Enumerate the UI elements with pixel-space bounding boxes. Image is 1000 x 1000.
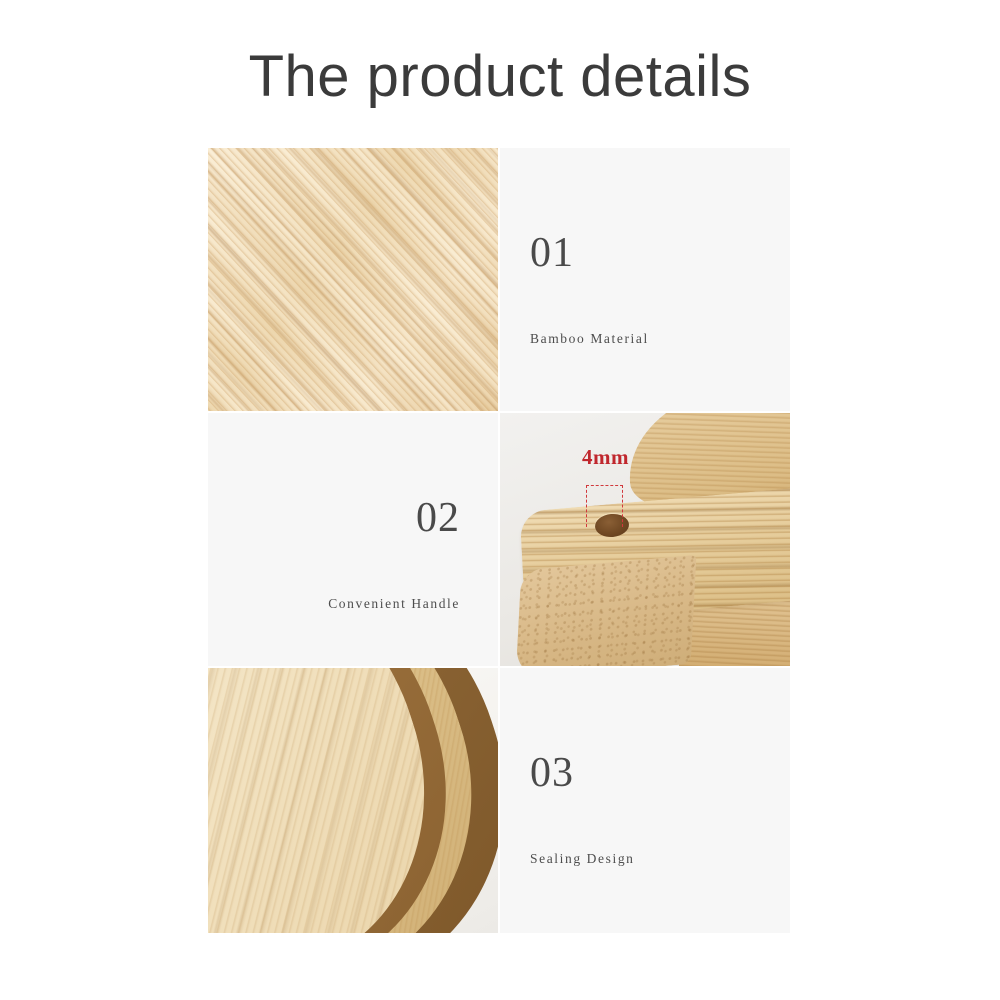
detail-item-01: 01 Bamboo Material bbox=[500, 148, 790, 411]
detail-label-02: Convenient Handle bbox=[328, 597, 460, 611]
measurement-dashed-box bbox=[586, 485, 623, 527]
detail-grid: 01 Bamboo Material 02 Convenient Handle … bbox=[208, 148, 790, 937]
sealed-edge-photo bbox=[208, 668, 498, 933]
detail-label-01: Bamboo Material bbox=[530, 332, 649, 346]
sealed-edge-scene bbox=[208, 668, 498, 933]
measurement-label: 4mm bbox=[582, 447, 629, 468]
bamboo-grain-texture bbox=[208, 148, 498, 411]
page-title: The product details bbox=[0, 44, 1000, 111]
detail-item-02: 02 Convenient Handle bbox=[208, 413, 498, 666]
handle-end-grain bbox=[515, 555, 696, 666]
product-details-page: The product details 01 Bamboo Material 0… bbox=[0, 0, 1000, 1000]
detail-item-03: 03 Sealing Design bbox=[500, 668, 790, 933]
detail-label-03: Sealing Design bbox=[530, 852, 635, 866]
detail-number-01: 01 bbox=[530, 232, 574, 274]
handle-hole-photo: 4mm bbox=[500, 413, 790, 666]
bamboo-grain-photo bbox=[208, 148, 498, 411]
handle-scene: 4mm bbox=[500, 413, 790, 666]
detail-number-03: 03 bbox=[530, 752, 574, 794]
detail-number-02: 02 bbox=[416, 497, 460, 539]
